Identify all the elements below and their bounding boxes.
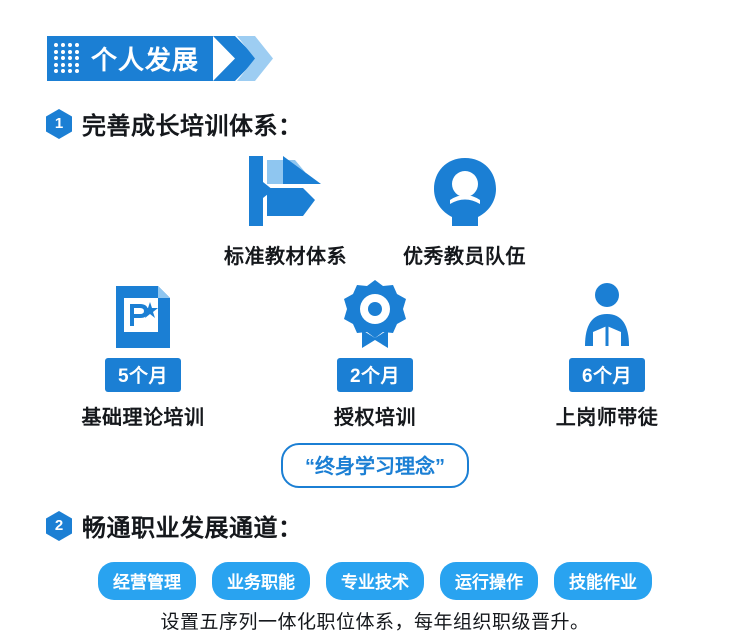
- infographic-page: 个人发展 1 完善成长培训体系：: [0, 0, 750, 635]
- tag-pill: 技能作业: [554, 562, 652, 600]
- list-item: 标准教材体系: [224, 150, 347, 269]
- footer-text: 设置五序列一体化职位体系，每年组织职级晋升。: [0, 607, 750, 634]
- mentor-person-icon: [571, 278, 643, 350]
- double-chevron-right-icon: [213, 36, 273, 81]
- training-system-row: 标准教材体系 优秀教员队伍: [0, 150, 750, 269]
- section-title-2: 畅通职业发展通道：: [82, 508, 303, 543]
- section-banner: 个人发展: [47, 36, 273, 81]
- item-caption: 授权培训: [334, 401, 416, 430]
- grid-dots-icon: [47, 36, 87, 81]
- item-caption: 优秀教员队伍: [403, 240, 526, 269]
- list-item: 2个月 授权培训: [285, 278, 465, 430]
- item-caption: 上岗师带徒: [556, 401, 659, 430]
- list-item: 优秀教员队伍: [403, 150, 526, 269]
- teacher-head-icon: [428, 150, 502, 228]
- tag-pill: 专业技术: [326, 562, 424, 600]
- section-title-1: 完善成长培训体系：: [82, 106, 303, 141]
- duration-badge: 2个月: [337, 358, 413, 392]
- section-heading-1: 1 完善成长培训体系：: [46, 106, 303, 141]
- section-heading-2: 2 畅通职业发展通道：: [46, 508, 303, 543]
- career-track-tags: 经营管理 业务职能 专业技术 运行操作 技能作业: [0, 562, 750, 600]
- list-item: 5个月 基础理论培训: [53, 278, 233, 430]
- tag-pill: 运行操作: [440, 562, 538, 600]
- tag-pill: 经营管理: [98, 562, 196, 600]
- training-phases-row: 5个月 基础理论培训 2个月 授权培训: [0, 278, 750, 430]
- section-number-2: 2: [46, 511, 72, 541]
- certificate-document-icon: [112, 278, 174, 350]
- list-item: 6个月 上岗师带徒: [517, 278, 697, 430]
- section-number-1: 1: [46, 109, 72, 139]
- hex-number-badge-2: 2: [46, 511, 72, 541]
- duration-badge: 6个月: [569, 358, 645, 392]
- hex-number-badge-1: 1: [46, 109, 72, 139]
- award-medal-icon: [342, 278, 408, 350]
- book-flag-icon: [243, 150, 329, 228]
- motto-pill: “终身学习理念”: [281, 443, 469, 488]
- duration-badge: 5个月: [105, 358, 181, 392]
- banner-title: 个人发展: [87, 36, 213, 81]
- item-caption: 基础理论培训: [82, 401, 205, 430]
- tag-pill: 业务职能: [212, 562, 310, 600]
- item-caption: 标准教材体系: [224, 240, 347, 269]
